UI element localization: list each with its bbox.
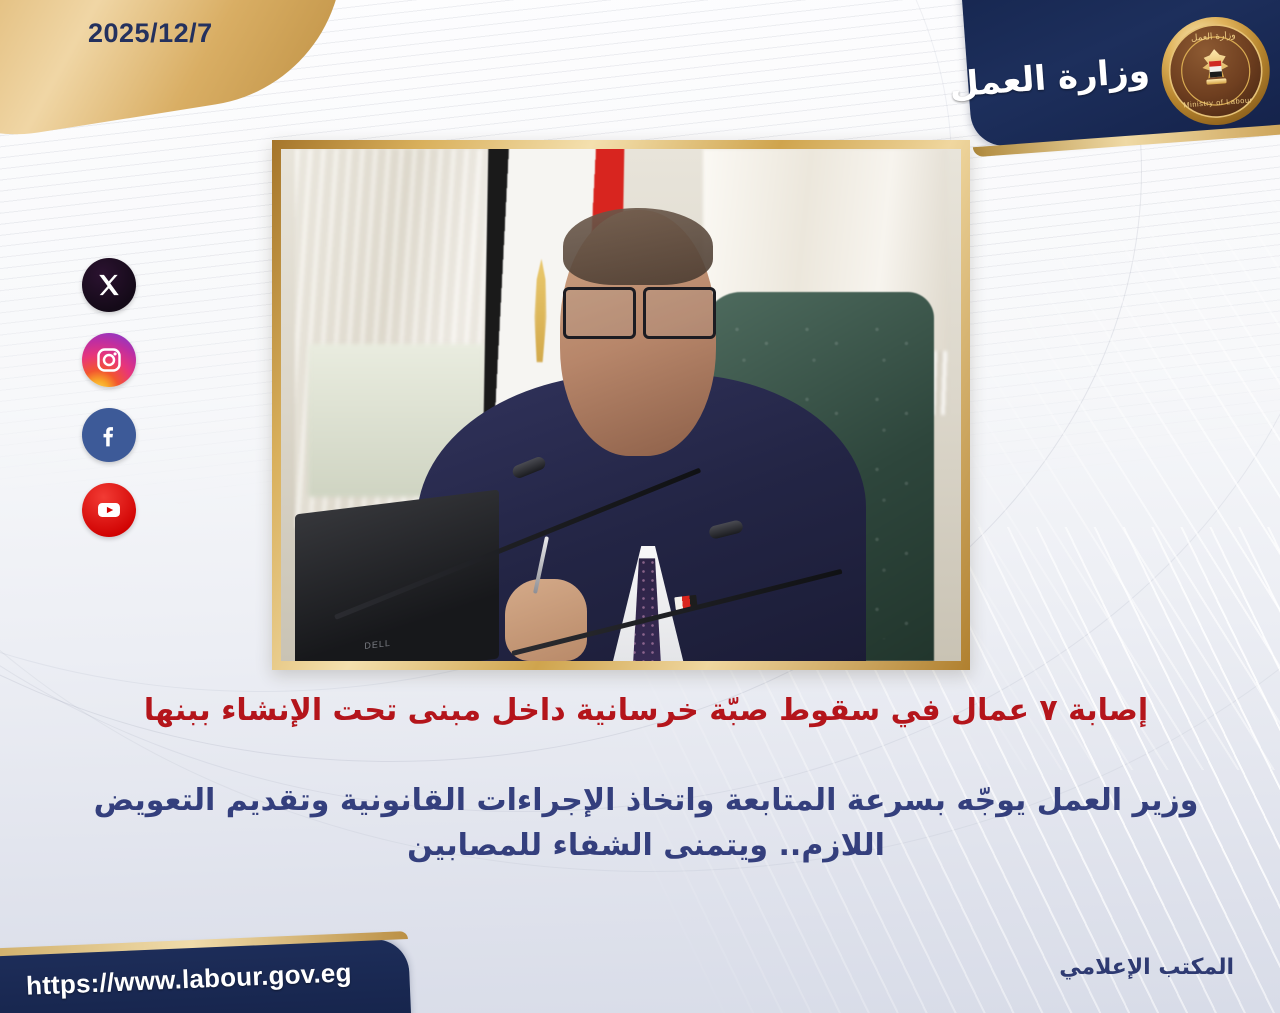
ministry-header-content: وزارة العمل (937, 0, 1277, 166)
social-links (82, 258, 136, 537)
subheadline: وزير العمل يوجّه بسرعة المتابعة واتخاذ ا… (70, 778, 1222, 868)
minister-photo (281, 149, 961, 661)
dell-laptop (295, 490, 499, 661)
ministry-name-label: وزارة العمل (948, 54, 1151, 112)
media-office-label: المكتب الإعلامي (1059, 955, 1234, 980)
instagram-icon[interactable] (82, 333, 136, 387)
headline: إصابة ٧ عمال في سقوط صبّة خرسانية داخل م… (70, 692, 1222, 730)
minister-hair (563, 208, 713, 285)
flag-eagle-emblem (534, 258, 548, 362)
eyeglasses (560, 287, 720, 333)
facebook-icon[interactable] (82, 408, 136, 462)
news-card: 2025/12/7 وزارة العمل (0, 0, 1280, 1013)
youtube-icon[interactable] (82, 483, 136, 537)
date-label: 2025/12/7 (88, 18, 213, 49)
ministry-emblem-icon: وزارة العمل Ministry of Labour (1156, 11, 1276, 131)
photo-frame (272, 140, 970, 670)
x-twitter-icon[interactable] (82, 258, 136, 312)
